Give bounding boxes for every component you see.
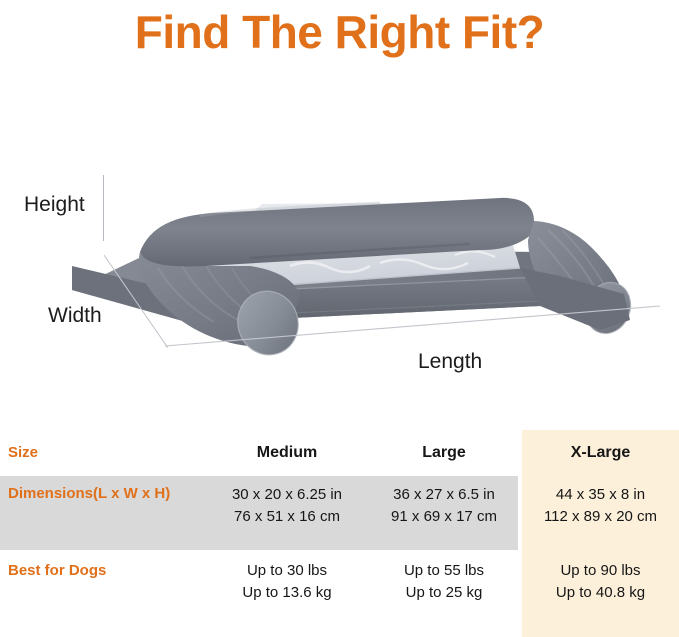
cell-xlarge-dimensions-in: 44 x 35 x 8 in <box>522 485 679 505</box>
cell-large-dogs-lbs: Up to 55 lbs <box>366 561 522 581</box>
row-header-best-for-dogs: Best for Dogs <box>8 562 106 579</box>
row-header-dimensions: Dimensions(L x W x H) <box>8 485 170 502</box>
product-size-infographic: Find The Right Fit? <box>0 0 679 637</box>
row-header-size: Size <box>8 444 38 461</box>
cell-large-dimensions-in: 36 x 27 x 6.5 in <box>366 485 522 505</box>
cell-medium-dogs-kg: Up to 13.6 kg <box>208 583 366 603</box>
cell-medium-dimensions-in: 30 x 20 x 6.25 in <box>208 485 366 505</box>
size-spec-table: Size Medium Large X-Large Dimensions(L x… <box>0 430 679 637</box>
height-guide-line <box>103 175 104 241</box>
dog-bed-image <box>0 80 679 420</box>
page-title: Find The Right Fit? <box>0 2 679 62</box>
cell-medium-dimensions-cm: 76 x 51 x 16 cm <box>208 507 366 527</box>
cell-xlarge-dogs-lbs: Up to 90 lbs <box>522 561 679 581</box>
cell-xlarge-dimensions-cm: 112 x 89 x 20 cm <box>522 507 679 527</box>
product-illustration: Height Width Length <box>0 80 679 420</box>
column-header-medium: Medium <box>208 444 366 462</box>
cell-medium-dogs-lbs: Up to 30 lbs <box>208 561 366 581</box>
length-label: Length <box>418 350 482 374</box>
cell-xlarge-dogs-kg: Up to 40.8 kg <box>522 583 679 603</box>
width-label: Width <box>48 304 102 328</box>
cell-large-dogs-kg: Up to 25 kg <box>366 583 522 603</box>
cell-large-dimensions-cm: 91 x 69 x 17 cm <box>366 507 522 527</box>
column-header-large: Large <box>366 444 522 462</box>
height-label: Height <box>24 193 85 217</box>
column-header-xlarge: X-Large <box>522 444 679 462</box>
